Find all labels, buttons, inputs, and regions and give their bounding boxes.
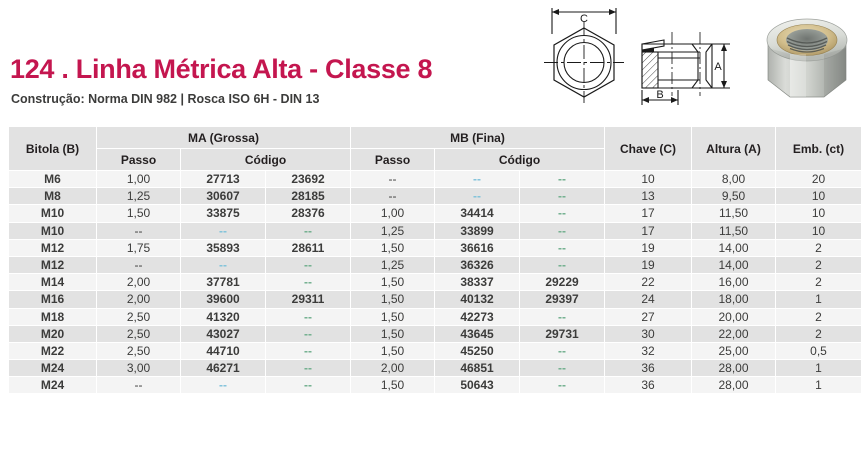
cell-ma-codigo-1: 41320: [181, 308, 266, 325]
cell-bitola: M12: [9, 239, 97, 256]
cell-ma-passo: 1,25: [97, 188, 181, 205]
cell-emb: 2: [776, 256, 862, 273]
cell-bitola: M16: [9, 291, 97, 308]
cell-bitola: M24: [9, 360, 97, 377]
page-subtitle: Construção: Norma DIN 982 | Rosca ISO 6H…: [11, 92, 319, 106]
cell-mb-codigo-2: --: [520, 188, 605, 205]
cell-emb: 2: [776, 274, 862, 291]
cell-ma-passo: --: [97, 222, 181, 239]
cell-ma-passo: 2,50: [97, 308, 181, 325]
cell-mb-passo: 1,25: [351, 222, 435, 239]
cell-mb-codigo-2: --: [520, 342, 605, 359]
cell-ma-codigo-2: --: [266, 377, 351, 394]
cell-ma-codigo-1: 43027: [181, 325, 266, 342]
cell-chave: 17: [605, 205, 692, 222]
cell-ma-codigo-2: 23692: [266, 171, 351, 188]
cell-bitola: M18: [9, 308, 97, 325]
cell-ma-passo: --: [97, 377, 181, 394]
page-title: 124 . Linha Métrica Alta - Classe 8: [10, 54, 432, 85]
cell-ma-codigo-1: 30607: [181, 188, 266, 205]
cell-ma-codigo-1: 46271: [181, 360, 266, 377]
cell-altura: 28,00: [692, 360, 776, 377]
cell-emb: 10: [776, 222, 862, 239]
cell-ma-passo: 1,00: [97, 171, 181, 188]
cell-ma-codigo-2: --: [266, 274, 351, 291]
col-header-chave: Chave (C): [605, 127, 692, 171]
dimension-label-b: B: [656, 89, 663, 101]
cell-mb-passo: --: [351, 188, 435, 205]
cell-bitola: M10: [9, 205, 97, 222]
cell-emb: 1: [776, 291, 862, 308]
side-view-drawing: A B: [634, 0, 750, 116]
front-view-drawing: C: [538, 0, 630, 116]
cell-bitola: M22: [9, 342, 97, 359]
cell-mb-passo: 1,50: [351, 274, 435, 291]
cell-chave: 19: [605, 256, 692, 273]
table-row: M12------1,2536326--1914,002: [9, 256, 862, 273]
cell-ma-codigo-2: 29311: [266, 291, 351, 308]
cell-mb-codigo-1: 34414: [435, 205, 520, 222]
cell-ma-codigo-2: --: [266, 325, 351, 342]
cell-mb-codigo-1: 50643: [435, 377, 520, 394]
table-row: M81,253060728185------139,5010: [9, 188, 862, 205]
cell-mb-passo: 1,00: [351, 205, 435, 222]
cell-mb-codigo-1: --: [435, 188, 520, 205]
cell-ma-codigo-2: --: [266, 222, 351, 239]
cell-ma-passo: 2,00: [97, 291, 181, 308]
cell-ma-codigo-2: --: [266, 256, 351, 273]
cell-mb-codigo-2: --: [520, 256, 605, 273]
cell-bitola: M12: [9, 256, 97, 273]
cell-altura: 25,00: [692, 342, 776, 359]
col-header-altura: Altura (A): [692, 127, 776, 171]
cell-chave: 10: [605, 171, 692, 188]
cell-ma-codigo-1: --: [181, 256, 266, 273]
cell-altura: 9,50: [692, 188, 776, 205]
cell-chave: 22: [605, 274, 692, 291]
cell-emb: 1: [776, 360, 862, 377]
table-row: M24------1,5050643--3628,001: [9, 377, 862, 394]
cell-emb: 0,5: [776, 342, 862, 359]
cell-altura: 8,00: [692, 171, 776, 188]
cell-mb-passo: 1,50: [351, 377, 435, 394]
table-row: M142,0037781--1,5038337292292216,002: [9, 274, 862, 291]
col-header-bitola: Bitola (B): [9, 127, 97, 171]
cell-bitola: M6: [9, 171, 97, 188]
cell-chave: 13: [605, 188, 692, 205]
cell-emb: 10: [776, 188, 862, 205]
cell-altura: 18,00: [692, 291, 776, 308]
spec-table-container: Bitola (B) MA (Grossa) MB (Fina) Chave (…: [8, 126, 861, 394]
cell-mb-passo: 2,00: [351, 360, 435, 377]
cell-mb-passo: 1,25: [351, 256, 435, 273]
cell-ma-passo: 2,00: [97, 274, 181, 291]
dimension-label-c: C: [580, 13, 588, 25]
col-header-mb-passo: Passo: [351, 149, 435, 171]
cell-ma-passo: --: [97, 256, 181, 273]
cell-mb-codigo-1: 36616: [435, 239, 520, 256]
cell-chave: 17: [605, 222, 692, 239]
table-body: M61,002771323692------108,0020M81,253060…: [9, 171, 862, 394]
table-row: M10------1,2533899--1711,5010: [9, 222, 862, 239]
cell-altura: 16,00: [692, 274, 776, 291]
cell-mb-passo: 1,50: [351, 342, 435, 359]
cell-ma-codigo-2: 28611: [266, 239, 351, 256]
cell-ma-codigo-1: --: [181, 222, 266, 239]
cell-ma-codigo-2: --: [266, 308, 351, 325]
cell-chave: 36: [605, 360, 692, 377]
cell-ma-codigo-2: 28185: [266, 188, 351, 205]
cell-ma-codigo-2: 28376: [266, 205, 351, 222]
cell-mb-codigo-1: 40132: [435, 291, 520, 308]
table-row: M222,5044710--1,5045250--3225,000,5: [9, 342, 862, 359]
cell-mb-codigo-2: --: [520, 205, 605, 222]
cell-altura: 14,00: [692, 239, 776, 256]
cell-mb-codigo-2: --: [520, 239, 605, 256]
col-header-mb-codigo: Código: [435, 149, 605, 171]
cell-bitola: M24: [9, 377, 97, 394]
cell-mb-passo: 1,50: [351, 239, 435, 256]
cell-mb-codigo-2: --: [520, 360, 605, 377]
dimension-label-a: A: [714, 61, 722, 73]
cell-bitola: M8: [9, 188, 97, 205]
cell-mb-codigo-1: --: [435, 171, 520, 188]
col-header-ma-passo: Passo: [97, 149, 181, 171]
cell-mb-codigo-1: 36326: [435, 256, 520, 273]
table-row: M101,5033875283761,0034414--1711,5010: [9, 205, 862, 222]
cell-mb-codigo-1: 33899: [435, 222, 520, 239]
table-row: M61,002771323692------108,0020: [9, 171, 862, 188]
cell-bitola: M10: [9, 222, 97, 239]
col-header-mb-fina: MB (Fina): [351, 127, 605, 149]
cell-emb: 2: [776, 239, 862, 256]
cell-mb-codigo-2: 29229: [520, 274, 605, 291]
cell-mb-codigo-2: --: [520, 308, 605, 325]
table-row: M202,5043027--1,5043645297313022,002: [9, 325, 862, 342]
cell-chave: 19: [605, 239, 692, 256]
table-row: M243,0046271--2,0046851--3628,001: [9, 360, 862, 377]
cell-emb: 20: [776, 171, 862, 188]
col-header-ma-codigo: Código: [181, 149, 351, 171]
cell-chave: 32: [605, 342, 692, 359]
cell-altura: 11,50: [692, 222, 776, 239]
cell-ma-codigo-2: --: [266, 342, 351, 359]
col-header-ma-grossa: MA (Grossa): [97, 127, 351, 149]
cell-chave: 24: [605, 291, 692, 308]
cell-bitola: M14: [9, 274, 97, 291]
cell-mb-passo: 1,50: [351, 291, 435, 308]
cell-emb: 2: [776, 308, 862, 325]
table-row: M182,5041320--1,5042273--2720,002: [9, 308, 862, 325]
cell-ma-codigo-1: 27713: [181, 171, 266, 188]
cell-altura: 22,00: [692, 325, 776, 342]
table-header-row-groups: Bitola (B) MA (Grossa) MB (Fina) Chave (…: [9, 127, 862, 149]
cell-ma-passo: 1,50: [97, 205, 181, 222]
cell-mb-codigo-1: 45250: [435, 342, 520, 359]
cell-altura: 28,00: [692, 377, 776, 394]
table-row: M121,7535893286111,5036616--1914,002: [9, 239, 862, 256]
cell-ma-passo: 2,50: [97, 325, 181, 342]
cell-mb-codigo-2: 29731: [520, 325, 605, 342]
cell-mb-codigo-1: 38337: [435, 274, 520, 291]
cell-ma-codigo-1: 44710: [181, 342, 266, 359]
cell-mb-passo: --: [351, 171, 435, 188]
cell-ma-codigo-1: 37781: [181, 274, 266, 291]
cell-mb-codigo-1: 42273: [435, 308, 520, 325]
cell-mb-passo: 1,50: [351, 325, 435, 342]
product-photo-lock-nut: [750, 2, 862, 112]
cell-mb-passo: 1,50: [351, 308, 435, 325]
table-head: Bitola (B) MA (Grossa) MB (Fina) Chave (…: [9, 127, 862, 171]
cell-chave: 30: [605, 325, 692, 342]
cell-mb-codigo-2: --: [520, 377, 605, 394]
cell-altura: 20,00: [692, 308, 776, 325]
cell-ma-codigo-2: --: [266, 360, 351, 377]
cell-altura: 14,00: [692, 256, 776, 273]
cell-mb-codigo-2: --: [520, 222, 605, 239]
cell-chave: 27: [605, 308, 692, 325]
cell-ma-codigo-1: 33875: [181, 205, 266, 222]
cell-mb-codigo-1: 46851: [435, 360, 520, 377]
table-row: M162,0039600293111,5040132293972418,001: [9, 291, 862, 308]
cell-emb: 2: [776, 325, 862, 342]
cell-altura: 11,50: [692, 205, 776, 222]
cell-ma-passo: 3,00: [97, 360, 181, 377]
col-header-emb: Emb. (ct): [776, 127, 862, 171]
cell-ma-passo: 1,75: [97, 239, 181, 256]
cell-ma-passo: 2,50: [97, 342, 181, 359]
cell-ma-codigo-1: --: [181, 377, 266, 394]
cell-mb-codigo-1: 43645: [435, 325, 520, 342]
cell-emb: 10: [776, 205, 862, 222]
cell-ma-codigo-1: 39600: [181, 291, 266, 308]
spec-table: Bitola (B) MA (Grossa) MB (Fina) Chave (…: [8, 126, 862, 394]
cell-emb: 1: [776, 377, 862, 394]
cell-chave: 36: [605, 377, 692, 394]
cell-mb-codigo-2: 29397: [520, 291, 605, 308]
cell-mb-codigo-2: --: [520, 171, 605, 188]
cell-ma-codigo-1: 35893: [181, 239, 266, 256]
technical-drawings: C: [538, 0, 868, 120]
cell-bitola: M20: [9, 325, 97, 342]
